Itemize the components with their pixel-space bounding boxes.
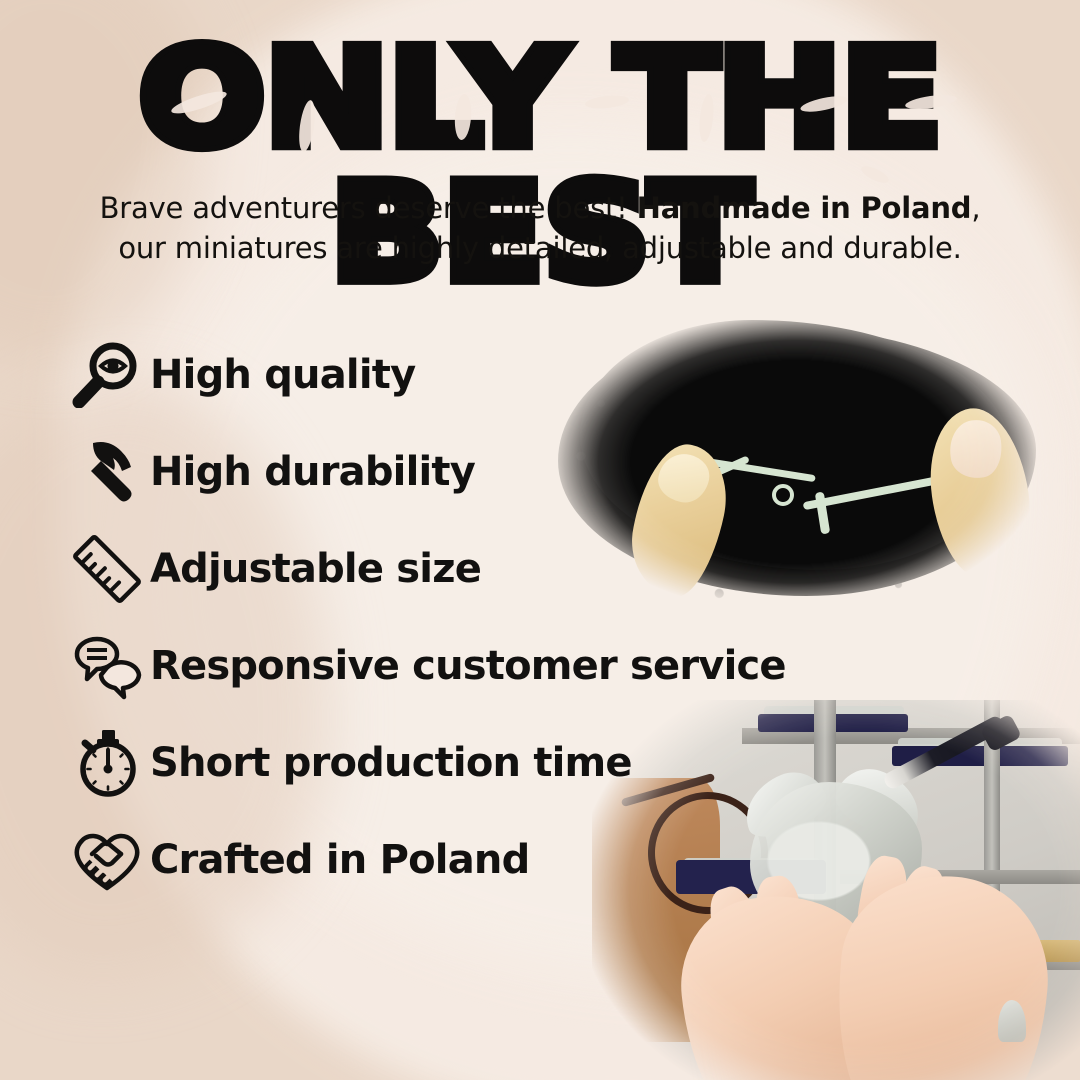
feature-label: High durability (150, 452, 475, 492)
feature-label: Adjustable size (150, 549, 481, 589)
feature-label: Short production time (150, 743, 632, 783)
subtitle-strong: Handmade in Poland (637, 191, 972, 225)
promo-banner: ONLY THE BEST Brave adventurers deserve … (0, 0, 1080, 1080)
feature-item-crafted-in-poland: Crafted in Poland (64, 811, 824, 908)
subtitle-lead: Brave adventurers deserve the best! (100, 191, 637, 225)
feature-item-high-quality: High quality (64, 326, 824, 423)
feature-label: Crafted in Poland (150, 840, 529, 880)
ruler-icon (64, 529, 150, 609)
feature-label: Responsive customer service (150, 646, 786, 686)
speech-bubbles-icon (64, 626, 150, 706)
stopwatch-icon (64, 723, 150, 803)
feature-item-responsive-customer-service: Responsive customer service (64, 617, 824, 714)
feature-item-high-durability: High durability (64, 423, 824, 520)
subtitle: Brave adventurers deserve the best! Hand… (90, 188, 990, 268)
feature-item-short-production-time: Short production time (64, 714, 824, 811)
feature-item-adjustable-size: Adjustable size (64, 520, 824, 617)
feature-list: High quality High durability Adj (64, 326, 824, 908)
magnifier-eye-icon (64, 335, 150, 415)
fingernail-right (946, 417, 1006, 482)
hammer-icon (64, 432, 150, 512)
heart-handshake-icon (64, 820, 150, 900)
feature-label: High quality (150, 355, 415, 395)
